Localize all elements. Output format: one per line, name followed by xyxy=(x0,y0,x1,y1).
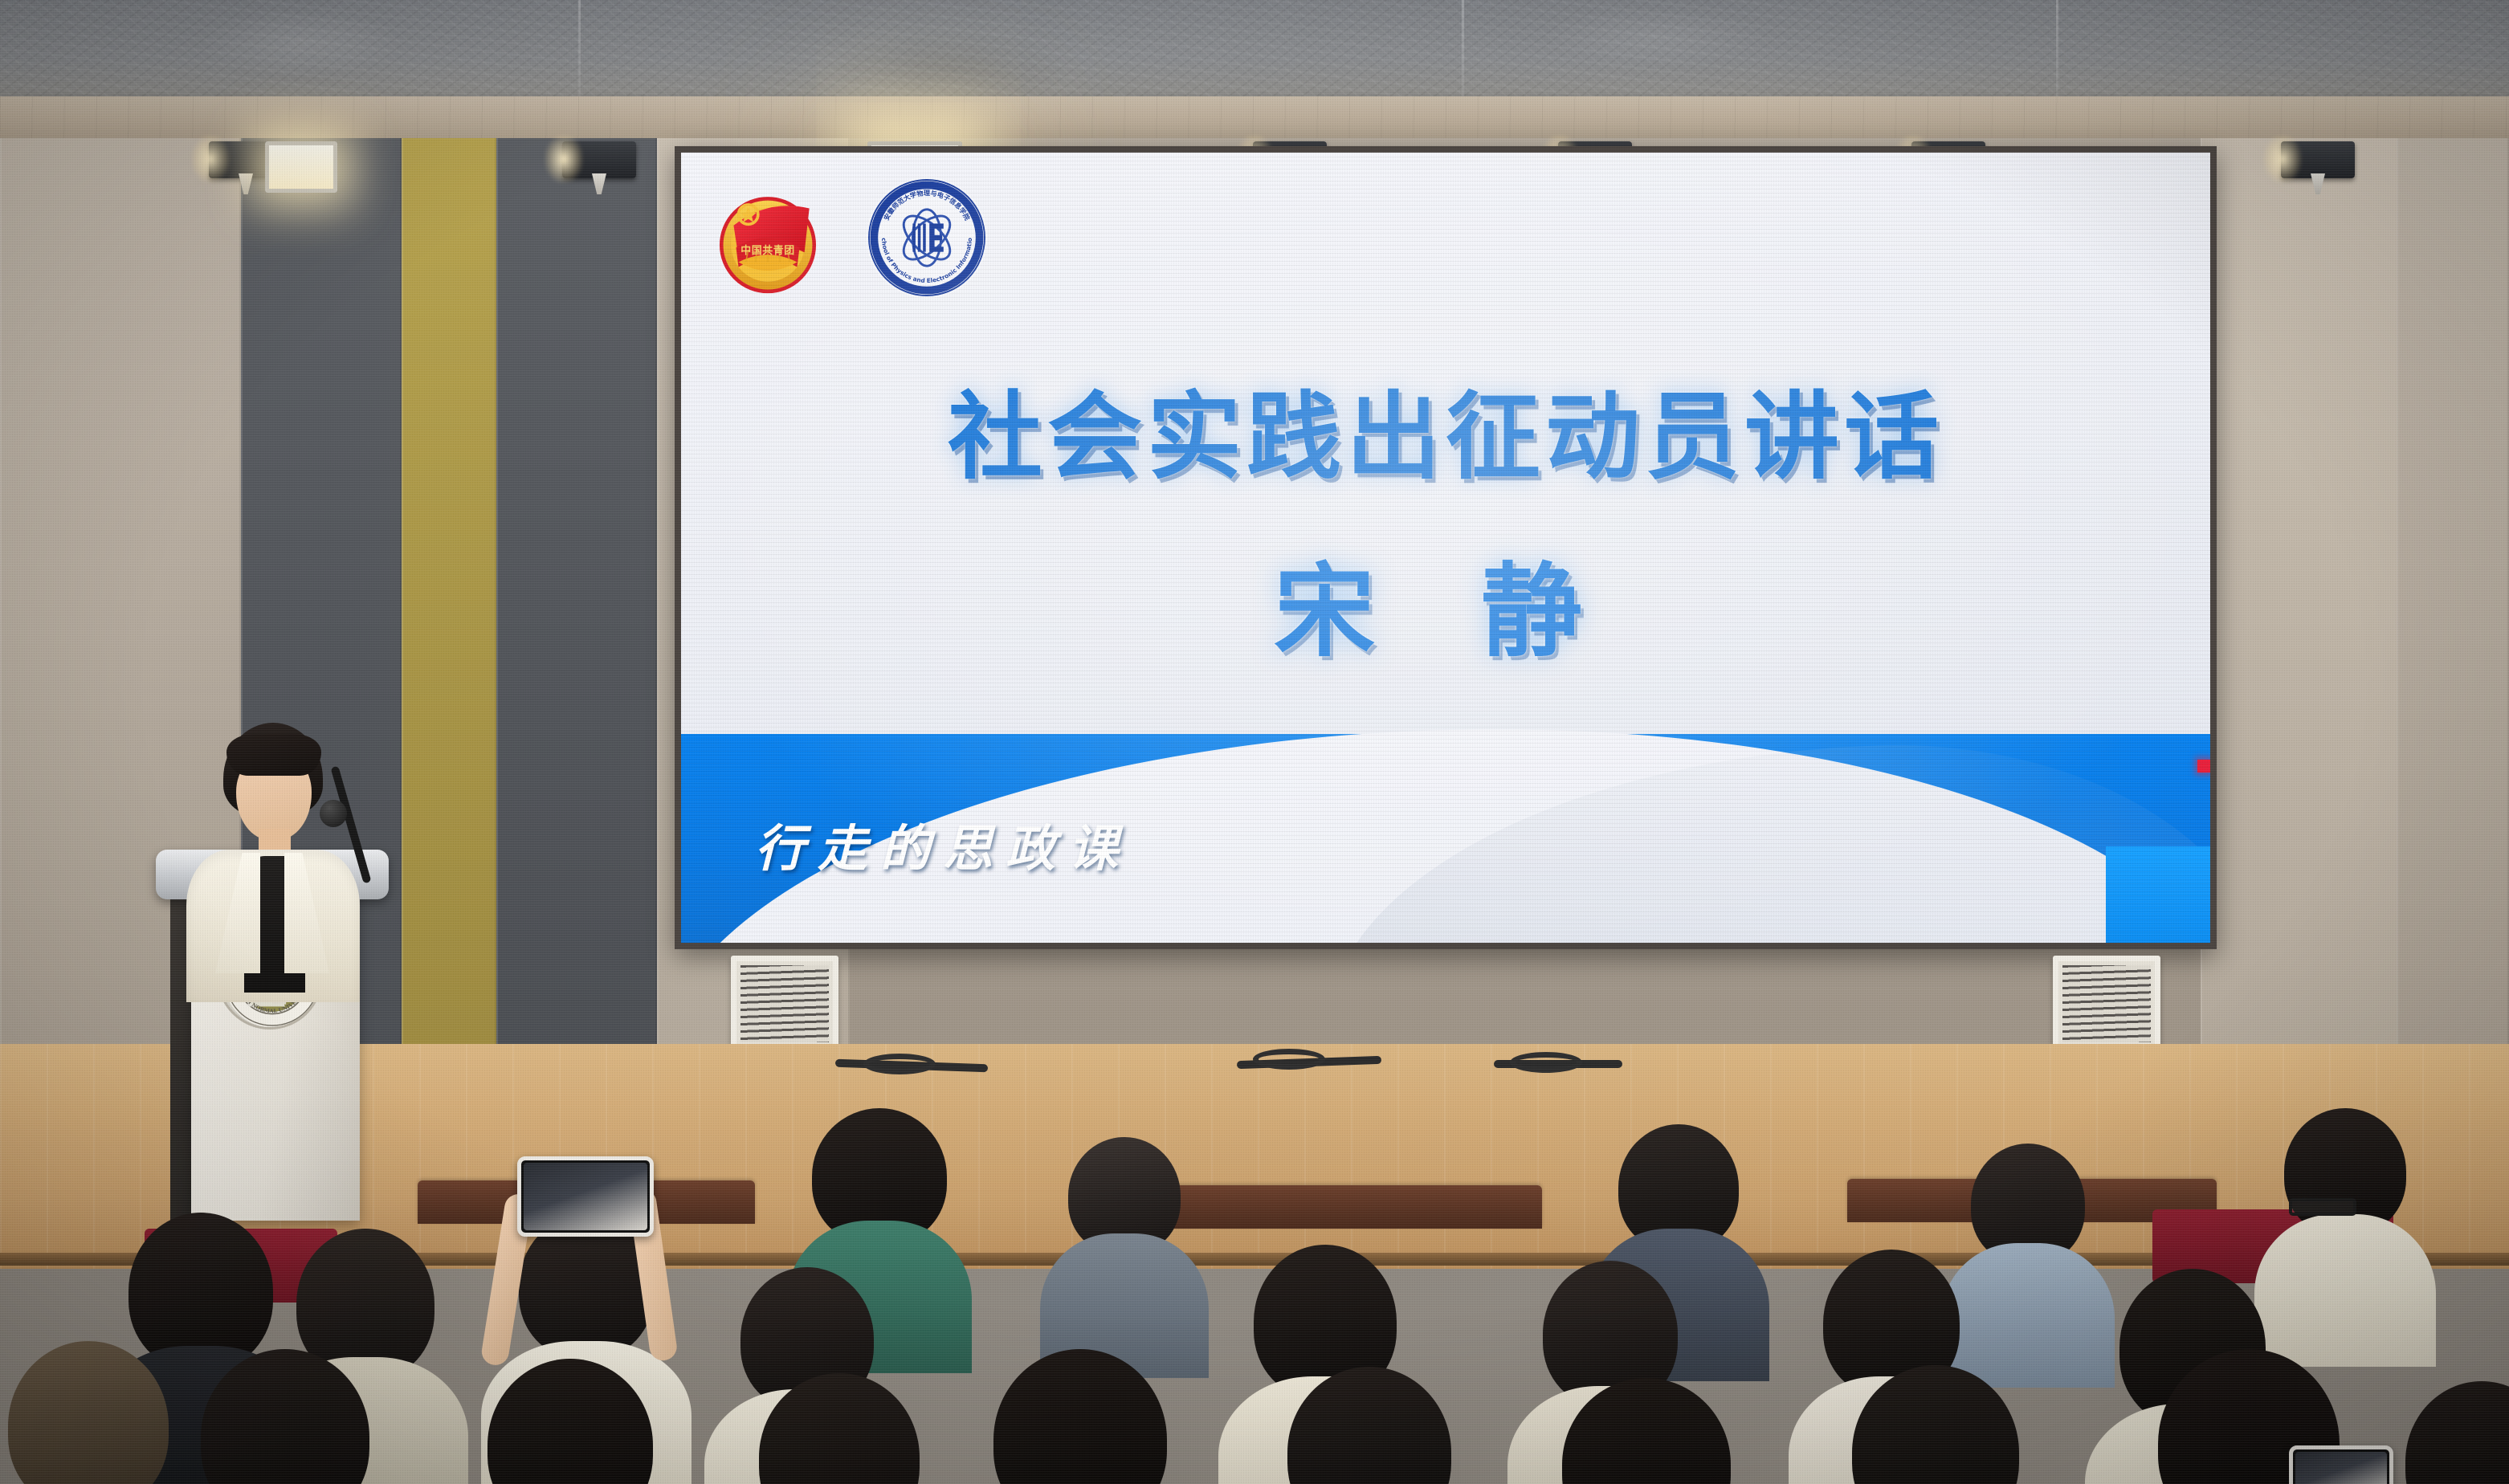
audience-person xyxy=(2377,1381,2509,1484)
stage-cable-coil xyxy=(863,1054,936,1074)
ceiling xyxy=(0,0,2509,106)
audience-person xyxy=(1815,1365,2056,1484)
stage-cable-coil xyxy=(1253,1049,1325,1070)
person-head xyxy=(488,1359,653,1484)
stage-cable-coil xyxy=(1510,1052,1582,1073)
audience-person xyxy=(450,1359,691,1484)
wall-vent xyxy=(2053,956,2160,1052)
person-head xyxy=(2405,1381,2509,1484)
slide-title: 社会实践出征动员讲话 xyxy=(681,360,2210,497)
led-screen-frame: 中国共青团 xyxy=(675,146,2217,949)
person-head xyxy=(1852,1365,2019,1484)
audience-person xyxy=(161,1349,410,1484)
wall-panel xyxy=(496,138,657,1070)
wall-vent xyxy=(731,956,838,1052)
slide-accent-block xyxy=(2106,846,2210,943)
smartphone-icon[interactable] xyxy=(2289,1445,2393,1484)
wall-panel xyxy=(402,138,496,1070)
wall-panel xyxy=(2397,138,2509,1070)
smartphone-screen xyxy=(524,1163,647,1230)
svg-text:中国共青团: 中国共青团 xyxy=(740,244,795,257)
stage-spotlight xyxy=(562,141,636,178)
audience-person xyxy=(723,1373,956,1484)
person-head xyxy=(1287,1367,1451,1484)
ceiling-texture xyxy=(0,0,2509,106)
stage-floodlight xyxy=(265,141,337,193)
communist-youth-league-emblem-icon: 中国共青团 xyxy=(707,177,829,299)
audience-person xyxy=(1044,1137,1205,1362)
school-of-physics-emblem-icon: 安徽师范大学物理与电子信息学院 School of Physics and El… xyxy=(863,173,991,302)
ceiling-seam xyxy=(1462,0,1464,106)
audience: 行走的思政课 行走的思政课 xyxy=(0,1108,2509,1484)
auditorium-scene: 中国共青团 xyxy=(0,0,2509,1484)
person-head xyxy=(759,1373,920,1484)
ceiling-seam xyxy=(578,0,581,106)
eyeglasses-icon xyxy=(2289,1198,2356,1216)
led-dead-pixel xyxy=(2197,760,2210,773)
person-head xyxy=(201,1349,369,1484)
person-head xyxy=(1562,1378,1731,1484)
stage-spotlight xyxy=(2281,141,2355,178)
slide-speaker-name: 宋 静 xyxy=(681,530,2210,676)
speaker-fringe xyxy=(226,734,321,776)
slide-caption: 行走的思政课 xyxy=(755,808,1131,880)
audience-person: 行走的思政课 xyxy=(956,1349,1205,1484)
ceiling-seam xyxy=(2056,0,2058,106)
speaker-person xyxy=(157,723,382,988)
presentation-slide: 中国共青团 xyxy=(681,153,2210,943)
audience-person xyxy=(1253,1367,1486,1484)
slide-logos: 中国共青团 xyxy=(707,173,991,302)
person-head xyxy=(993,1349,1167,1484)
smartphone-screen xyxy=(2295,1452,2387,1484)
person-head xyxy=(8,1341,169,1484)
smartphone-icon[interactable] xyxy=(517,1156,654,1237)
audience-person xyxy=(1526,1378,1767,1484)
